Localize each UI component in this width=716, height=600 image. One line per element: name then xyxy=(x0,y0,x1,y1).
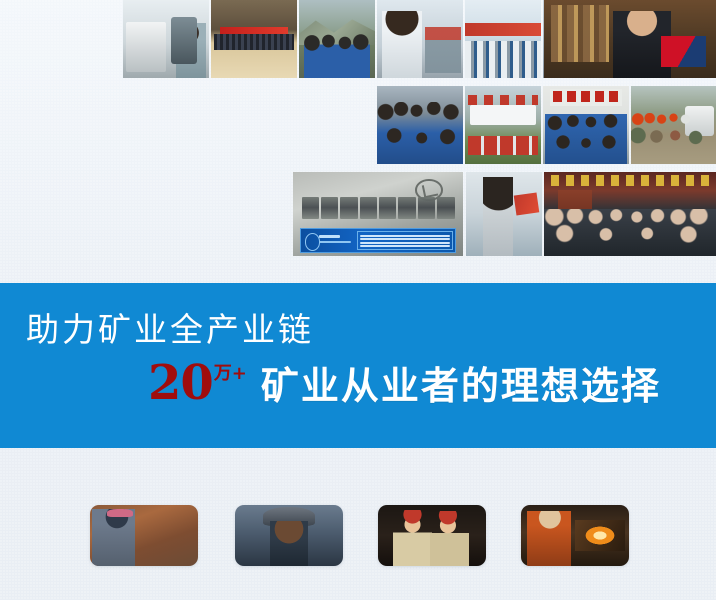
signboard-directory-panel xyxy=(300,228,456,253)
signboard-subsidiary-list xyxy=(357,231,453,250)
photo-technician-white-coat-image xyxy=(377,0,463,78)
photo-company-signboard[interactable] xyxy=(293,172,463,256)
photo-chairman-office-flags-image xyxy=(544,0,716,78)
banner-subline: 矿业从业者的理想选择 xyxy=(261,355,661,410)
photo-furnace-worker-image xyxy=(521,505,629,566)
photo-conference-crowd-image xyxy=(544,172,716,256)
photo-award-ceremony-hall-image xyxy=(211,0,297,78)
company-photo-collage xyxy=(0,0,716,262)
signboard-brand-mark xyxy=(303,231,354,250)
photo-field-team-mountain-image xyxy=(299,0,375,78)
photo-company-signboard-image xyxy=(293,172,463,256)
photo-award-ceremony-hall[interactable] xyxy=(211,0,297,78)
photo-conference-crowd[interactable] xyxy=(544,172,716,256)
photo-field-crew-van-image xyxy=(631,86,716,164)
photo-staff-group-blue-uniform-image xyxy=(377,86,463,164)
photo-chairman-office-flags[interactable] xyxy=(544,0,716,78)
marketing-banner: 助力矿业全产业链 20 万+ 矿业从业者的理想选择 xyxy=(0,283,716,448)
photo-mine-entrance-crew[interactable] xyxy=(543,86,629,164)
photo-woman-with-flag[interactable] xyxy=(466,172,542,256)
photo-furnace-worker[interactable] xyxy=(521,505,629,566)
banner-headline: 助力矿业全产业链 xyxy=(26,303,314,351)
photo-smiling-miner-helmet-image xyxy=(235,505,343,566)
photo-technician-white-coat[interactable] xyxy=(377,0,463,78)
photo-field-team-mountain[interactable] xyxy=(299,0,375,78)
photo-geologist-outcrop[interactable] xyxy=(90,505,198,566)
signboard-title-text xyxy=(302,197,455,219)
photo-two-workers-helmets[interactable] xyxy=(378,505,486,566)
photo-outdoor-banner-event-image xyxy=(465,86,541,164)
photo-smiling-miner-helmet[interactable] xyxy=(235,505,343,566)
photo-field-crew-van[interactable] xyxy=(631,86,716,164)
banner-count-unit: 万+ xyxy=(214,359,247,385)
photo-staff-group-blue-uniform[interactable] xyxy=(377,86,463,164)
banner-count-number: 20 xyxy=(148,359,213,407)
photo-mine-entrance-crew-image xyxy=(543,86,629,164)
photo-lab-equipment-operator-image xyxy=(123,0,209,78)
photo-flotation-image xyxy=(465,0,541,78)
photo-engineer-duo-main[interactable] xyxy=(465,0,541,78)
photo-geologist-outcrop-image xyxy=(90,505,198,566)
industry-photo-strip xyxy=(0,460,716,600)
photo-woman-with-flag-image xyxy=(466,172,542,256)
photo-two-workers-helmets-image xyxy=(378,505,486,566)
photo-lab-equipment-operator[interactable] xyxy=(123,0,209,78)
photo-outdoor-banner-event[interactable] xyxy=(465,86,541,164)
banner-subline-row: 20 万+ 矿业从业者的理想选择 xyxy=(148,355,661,410)
